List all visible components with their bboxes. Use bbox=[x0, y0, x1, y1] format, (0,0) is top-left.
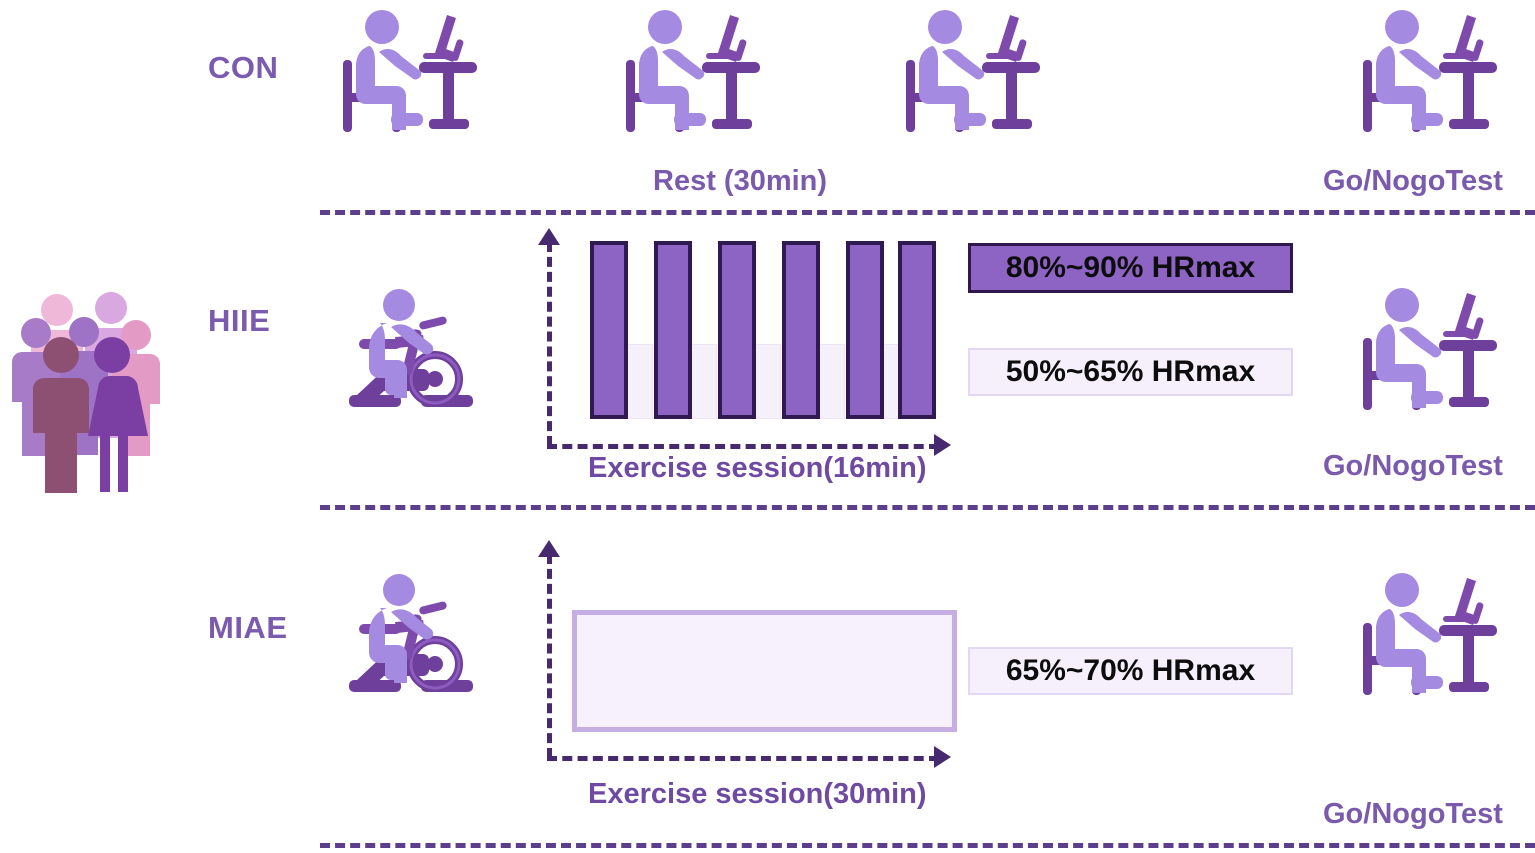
hiie-interval-bars bbox=[590, 241, 936, 419]
hiie-gonogo-label: Go/NogoTest bbox=[1323, 450, 1503, 483]
row-label-miae: MIAE bbox=[208, 610, 288, 646]
legend-hiie-high-text: 80%~90% HRmax bbox=[1006, 251, 1255, 285]
hiie-axis-x bbox=[547, 444, 939, 449]
legend-miae-moderate-intensity: 65%~70% HRmax bbox=[968, 647, 1293, 695]
legend-miae-text: 65%~70% HRmax bbox=[1006, 654, 1255, 688]
hiie-axis-x-arrow bbox=[934, 434, 951, 456]
bar-interval bbox=[718, 241, 756, 419]
person-at-desk-icon-test bbox=[1355, 568, 1500, 703]
miae-axis-y bbox=[547, 554, 552, 758]
person-at-desk-icon bbox=[618, 5, 763, 140]
person-on-exercise-bike-icon bbox=[335, 283, 475, 413]
miae-session-caption: Exercise session(30min) bbox=[588, 778, 927, 811]
miae-gonogo-label: Go/NogoTest bbox=[1323, 798, 1503, 831]
separator-hiie-miae bbox=[320, 505, 1535, 510]
bar-interval bbox=[846, 241, 884, 419]
row-label-hiie: HIIE bbox=[208, 303, 270, 339]
legend-hiie-low-intensity: 50%~65% HRmax bbox=[968, 348, 1293, 396]
person-on-exercise-bike-icon bbox=[335, 568, 475, 698]
person-at-desk-icon bbox=[898, 5, 1043, 140]
con-rest-caption: Rest (30min) bbox=[653, 165, 827, 198]
separator-bottom bbox=[320, 843, 1535, 848]
con-gonogo-label: Go/NogoTest bbox=[1323, 165, 1503, 198]
person-at-desk-icon-test bbox=[1355, 283, 1500, 418]
miae-continuous-block bbox=[572, 610, 957, 732]
person-at-desk-icon-test bbox=[1355, 5, 1500, 140]
group-of-people-icon bbox=[8, 278, 166, 448]
bar-interval bbox=[782, 241, 820, 419]
miae-axis-x-arrow bbox=[934, 746, 951, 768]
legend-hiie-low-text: 50%~65% HRmax bbox=[1006, 355, 1255, 389]
hiie-axis-y bbox=[547, 242, 552, 446]
bar-interval bbox=[898, 241, 936, 419]
person-at-desk-icon bbox=[335, 5, 480, 140]
hiie-session-caption: Exercise session(16min) bbox=[588, 452, 927, 485]
legend-hiie-high-intensity: 80%~90% HRmax bbox=[968, 243, 1293, 293]
separator-con-hiie bbox=[320, 210, 1535, 215]
row-label-con: CON bbox=[208, 50, 278, 86]
bar-interval bbox=[654, 241, 692, 419]
diagram-canvas: CON bbox=[0, 0, 1535, 853]
bar-interval bbox=[590, 241, 628, 419]
miae-axis-x bbox=[547, 756, 939, 761]
